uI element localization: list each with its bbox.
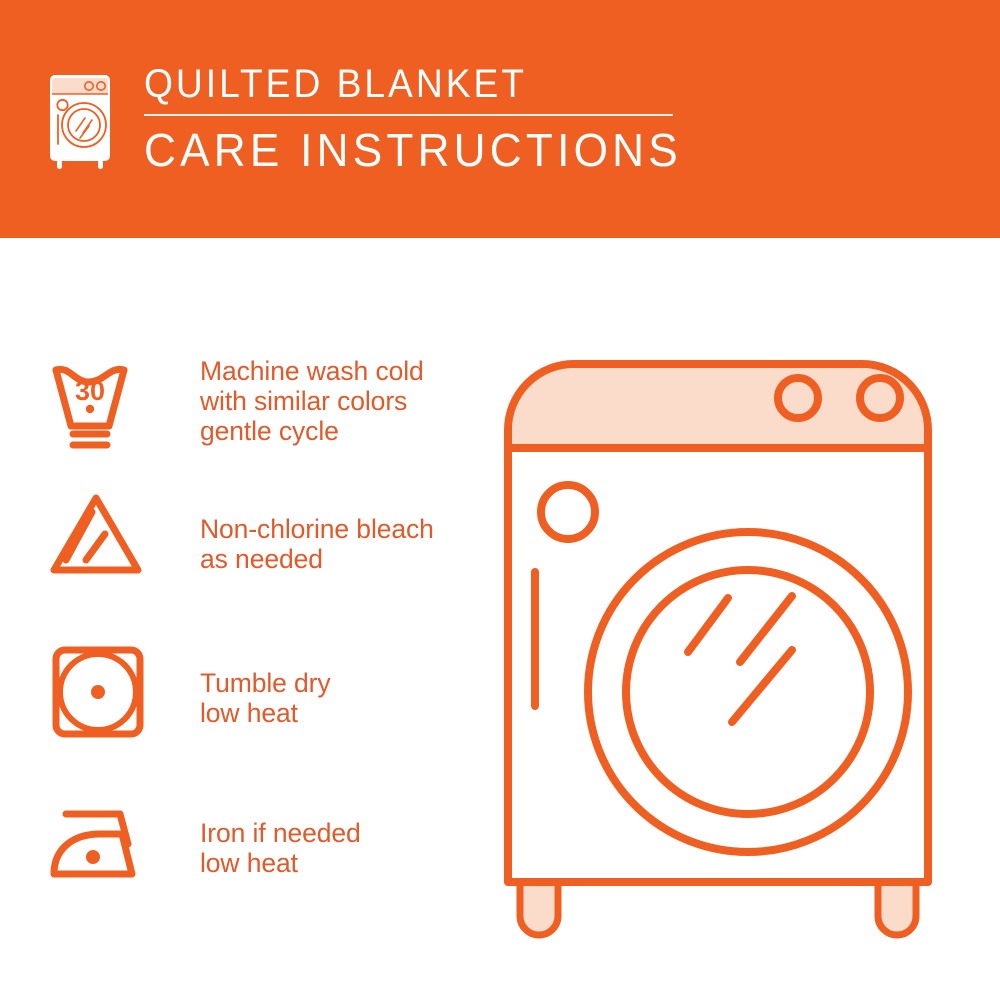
care-instructions-page: QUILTED BLANKET CARE INSTRUCTIONS 30: [0, 0, 1000, 1000]
page-title-line1: QUILTED BLANKET: [144, 62, 665, 106]
page-title-line2: CARE INSTRUCTIONS: [144, 125, 682, 175]
header-content: QUILTED BLANKET CARE INSTRUCTIONS: [44, 62, 704, 176]
header-banner: QUILTED BLANKET CARE INSTRUCTIONS: [0, 0, 1000, 238]
header-title-group: QUILTED BLANKET CARE INSTRUCTIONS: [144, 62, 704, 175]
wash-temperature-label: 30: [75, 376, 105, 406]
title-divider: [144, 114, 673, 116]
care-row-bleach: Non-chlorine bleach as needed: [0, 488, 500, 598]
front-load-washing-machine-illustration: [480, 320, 980, 960]
tumble-dry-low-heat-icon: [48, 642, 158, 752]
care-row-machine-wash: 30 Machine wash cold with similar colors…: [0, 348, 500, 458]
care-label-tumble-dry: Tumble dry low heat: [200, 642, 331, 728]
care-label-bleach: Non-chlorine bleach as needed: [200, 488, 434, 574]
machine-wash-30-gentle-icon: 30: [48, 348, 158, 458]
non-chlorine-bleach-triangle-icon: [48, 488, 158, 598]
care-row-iron: Iron if needed low heat: [0, 792, 500, 902]
iron-low-heat-icon: [48, 792, 158, 902]
care-label-iron: Iron if needed low heat: [200, 792, 361, 878]
washing-machine-icon: [44, 68, 122, 176]
washing-machine-graphic: [480, 320, 980, 960]
care-row-tumble-dry: Tumble dry low heat: [0, 642, 500, 752]
care-label-machine-wash: Machine wash cold with similar colors ge…: [200, 348, 424, 446]
